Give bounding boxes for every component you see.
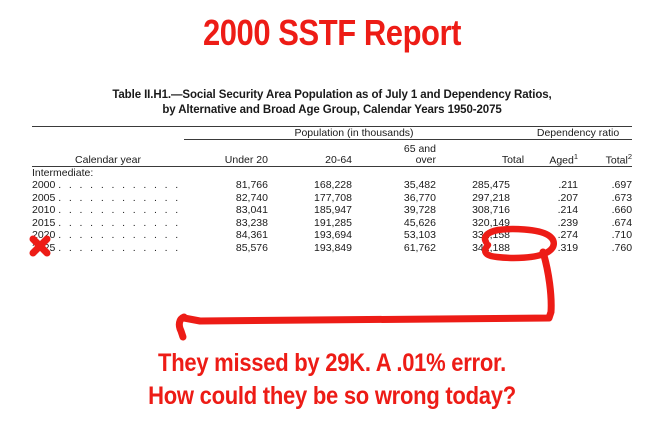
row-total-population: 341,188 — [436, 242, 524, 255]
row-total-population: 297,218 — [436, 192, 524, 205]
row-year-cell: 2015 . . . . . . . . . . . . — [32, 217, 184, 230]
row-20-64: 191,285 — [268, 217, 352, 230]
row-under-20: 82,740 — [184, 192, 268, 205]
red-arrow-annotation — [184, 252, 551, 321]
table-caption: Table II.H1.—Social Security Area Popula… — [46, 88, 618, 118]
table-row: 2025 . . . . . . . . . . . .85,576193,84… — [32, 242, 632, 255]
table-row: 2020 . . . . . . . . . . . .84,361193,69… — [32, 229, 632, 242]
column-header-aged: Aged1 — [524, 144, 578, 167]
row-dot-leader: . . . . . . . . . . . . — [58, 229, 180, 241]
table-caption-line2: by Alternative and Broad Age Group, Cale… — [162, 104, 501, 116]
column-header-calendar-year: Calendar year — [32, 144, 184, 167]
row-65-and-over: 36,770 — [352, 192, 436, 205]
section-label-row: Intermediate: — [32, 167, 632, 180]
row-65-and-over: 35,482 — [352, 179, 436, 192]
row-65-and-over: 45,626 — [352, 217, 436, 230]
footnote-marker-1: 1 — [574, 152, 578, 161]
report-table-block: Table II.H1.—Social Security Area Popula… — [32, 88, 632, 255]
row-total-ratio: .697 — [578, 179, 632, 192]
section-label-intermediate: Intermediate: — [32, 167, 632, 180]
table-row: 2010 . . . . . . . . . . . .83,041185,94… — [32, 204, 632, 217]
row-65-and-over: 53,103 — [352, 229, 436, 242]
row-dot-leader: . . . . . . . . . . . . — [58, 242, 180, 254]
caption-line-1: They missed by 29K. A .01% error. — [40, 347, 624, 380]
column-header-total-population: Total — [436, 144, 524, 167]
row-aged-ratio: .214 — [524, 204, 578, 217]
group-header-blank — [32, 127, 184, 140]
table-caption-line1: Table II.H1.—Social Security Area Popula… — [112, 89, 551, 101]
table-row: 2005 . . . . . . . . . . . .82,740177,70… — [32, 192, 632, 205]
row-total-ratio: .674 — [578, 217, 632, 230]
row-under-20: 85,576 — [184, 242, 268, 255]
table-row: 2000 . . . . . . . . . . . .81,766168,22… — [32, 179, 632, 192]
row-under-20: 83,238 — [184, 217, 268, 230]
row-65-and-over: 61,762 — [352, 242, 436, 255]
table-body: 2000 . . . . . . . . . . . .81,766168,22… — [32, 179, 632, 255]
row-dot-leader: . . . . . . . . . . . . — [58, 192, 180, 204]
column-header-under-20: Under 20 — [184, 144, 268, 167]
population-dependency-table: Population (in thousands) Dependency rat… — [32, 126, 632, 255]
row-aged-ratio: .239 — [524, 217, 578, 230]
row-dot-leader: . . . . . . . . . . . . — [58, 179, 180, 191]
column-header-total-ratio-label: Total — [606, 154, 628, 166]
column-header-total-ratio: Total2 — [578, 144, 632, 167]
row-total-population: 285,475 — [436, 179, 524, 192]
group-header-dependency: Dependency ratio — [524, 127, 632, 140]
column-header-aged-label: Aged — [549, 154, 574, 166]
caption-line-2: How could they be so wrong today? — [40, 380, 624, 413]
row-under-20: 81,766 — [184, 179, 268, 192]
row-20-64: 193,849 — [268, 242, 352, 255]
page-headline: 2000 SSTF Report — [46, 12, 617, 54]
row-year-label: 2020 — [32, 229, 55, 241]
row-total-population: 331,158 — [436, 229, 524, 242]
row-20-64: 193,694 — [268, 229, 352, 242]
row-65-and-over: 39,728 — [352, 204, 436, 217]
column-header-65-line2: over — [416, 154, 436, 166]
row-year-label: 2000 — [32, 179, 55, 191]
column-header-row: Calendar year Under 20 20-64 65 and over… — [32, 144, 632, 167]
row-total-ratio: .760 — [578, 242, 632, 255]
column-header-65-and-over: 65 and over — [352, 144, 436, 167]
row-20-64: 177,708 — [268, 192, 352, 205]
row-under-20: 83,041 — [184, 204, 268, 217]
row-year-label: 2015 — [32, 217, 55, 229]
row-year-cell: 2020 . . . . . . . . . . . . — [32, 229, 184, 242]
row-dot-leader: . . . . . . . . . . . . — [58, 217, 180, 229]
row-year-label: 2010 — [32, 204, 55, 216]
row-year-cell: 2010 . . . . . . . . . . . . — [32, 204, 184, 217]
row-year-cell: 2025 . . . . . . . . . . . . — [32, 242, 184, 255]
column-header-20-64: 20-64 — [268, 144, 352, 167]
row-year-cell: 2000 . . . . . . . . . . . . — [32, 179, 184, 192]
row-year-label: 2005 — [32, 192, 55, 204]
row-total-ratio: .660 — [578, 204, 632, 217]
row-total-ratio: .673 — [578, 192, 632, 205]
row-aged-ratio: .211 — [524, 179, 578, 192]
row-aged-ratio: .319 — [524, 242, 578, 255]
row-aged-ratio: .274 — [524, 229, 578, 242]
red-arrowhead-icon — [179, 317, 184, 337]
group-header-row: Population (in thousands) Dependency rat… — [32, 127, 632, 140]
page-caption: They missed by 29K. A .01% error. How co… — [40, 347, 624, 413]
row-20-64: 185,947 — [268, 204, 352, 217]
row-under-20: 84,361 — [184, 229, 268, 242]
table-row: 2015 . . . . . . . . . . . .83,238191,28… — [32, 217, 632, 230]
footnote-marker-2: 2 — [628, 152, 632, 161]
row-total-ratio: .710 — [578, 229, 632, 242]
row-year-label: 2025 — [32, 242, 55, 254]
row-dot-leader: . . . . . . . . . . . . — [58, 204, 180, 216]
row-total-population: 320,149 — [436, 217, 524, 230]
row-year-cell: 2005 . . . . . . . . . . . . — [32, 192, 184, 205]
row-20-64: 168,228 — [268, 179, 352, 192]
row-aged-ratio: .207 — [524, 192, 578, 205]
row-total-population: 308,716 — [436, 204, 524, 217]
group-header-population: Population (in thousands) — [184, 127, 524, 140]
